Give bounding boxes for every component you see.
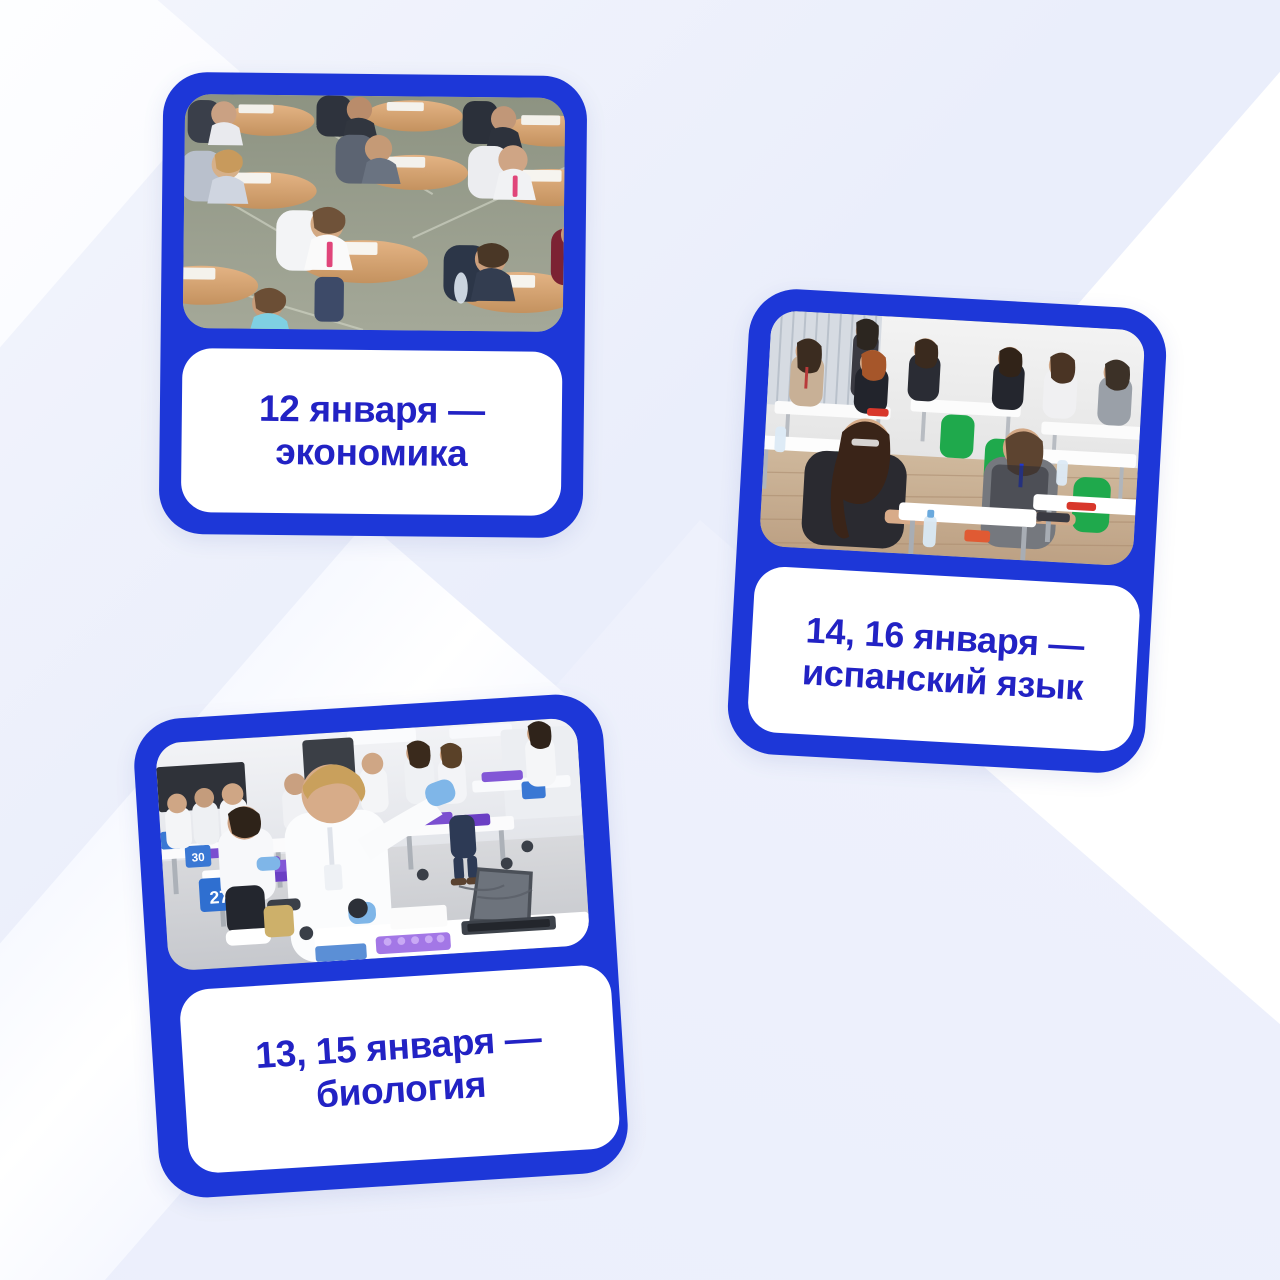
- svg-text:30: 30: [191, 851, 205, 865]
- schedule-card-economics[interactable]: 12 января — экономика: [159, 72, 588, 538]
- poster-canvas: 12 января — экономика: [0, 0, 1280, 1280]
- photo-economics-exam-hall: [183, 94, 565, 332]
- photo-spanish-classroom: [759, 310, 1146, 567]
- caption-text-economics: 12 января — экономика: [258, 388, 485, 476]
- caption-text-spanish: 14, 16 января — испанский язык: [801, 609, 1087, 708]
- schedule-card-biology[interactable]: 27 30: [131, 692, 630, 1201]
- caption-panel-spanish: 14, 16 января — испанский язык: [747, 565, 1142, 752]
- caption-panel-biology: 13, 15 января — биология: [178, 964, 621, 1175]
- caption-text-biology: 13, 15 января — биология: [254, 1017, 545, 1121]
- caption-panel-economics: 12 января — экономика: [181, 348, 563, 516]
- photo-biology-laboratory: 27 30: [155, 717, 590, 971]
- schedule-card-spanish[interactable]: 14, 16 января — испанский язык: [725, 287, 1168, 776]
